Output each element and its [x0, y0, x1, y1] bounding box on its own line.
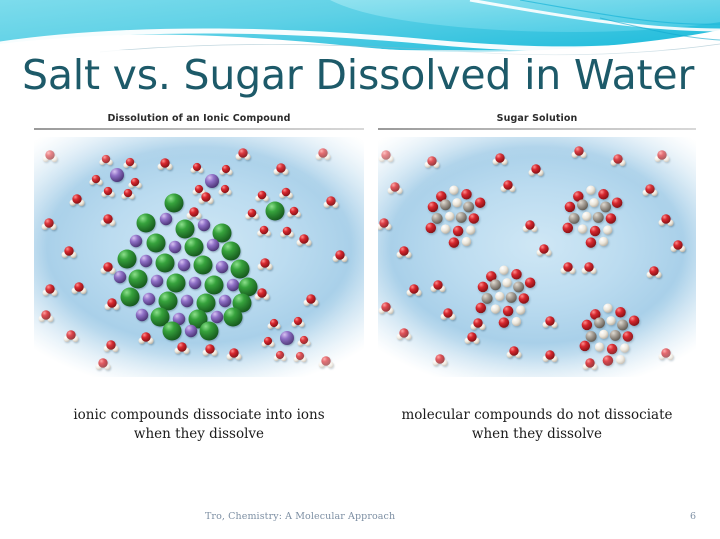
panel-left-divider [34, 128, 364, 130]
explanation-left-line1: ionic compounds dissociate into ions [34, 406, 364, 425]
sucrose-molecule-1 [426, 185, 486, 247]
explanation-left: ionic compounds dissociate into ions whe… [34, 406, 364, 444]
salt-dissolution-illustration [34, 137, 364, 377]
sucrose-molecule-4 [580, 303, 640, 365]
panel-ionic-compound: Dissolution of an Ionic Compound [34, 113, 364, 377]
hydrated-sodium-ion-2 [191, 163, 233, 195]
page-title: Salt vs. Sugar Dissolved in Water [22, 53, 702, 97]
explanation-right: molecular compounds do not dissociate wh… [378, 406, 696, 444]
sucrose-molecule-2 [563, 185, 623, 247]
slide-footer: Tro, Chemistry: A Molecular Approach 6 [0, 511, 720, 531]
explanation-left-line2: when they dissolve [34, 425, 364, 444]
salt-crystal [114, 213, 258, 341]
sugar-solution-illustration [378, 137, 696, 377]
detaching-chloride [165, 194, 184, 213]
wave-banner [0, 0, 720, 58]
footer-page-number: 6 [690, 511, 696, 522]
explanation-right-line1: molecular compounds do not dissociate [378, 406, 696, 425]
slide-canvas: Salt vs. Sugar Dissolved in Water Dissol… [0, 0, 720, 539]
hydrated-sodium-ion-3 [262, 317, 311, 362]
panel-sugar-solution: Sugar Solution [378, 113, 696, 377]
explanation-right-line2: when they dissolve [378, 425, 696, 444]
water-molecules [378, 146, 686, 370]
footer-source-text: Tro, Chemistry: A Molecular Approach [205, 511, 395, 522]
panel-right-caption: Sugar Solution [378, 113, 696, 128]
sucrose-molecule-3 [476, 265, 536, 327]
hydrated-sodium-ion-1 [89, 155, 141, 199]
hydrated-chloride-ion-1 [245, 188, 301, 238]
panel-left-caption: Dissolution of an Ionic Compound [34, 113, 364, 128]
panel-right-divider [378, 128, 696, 130]
